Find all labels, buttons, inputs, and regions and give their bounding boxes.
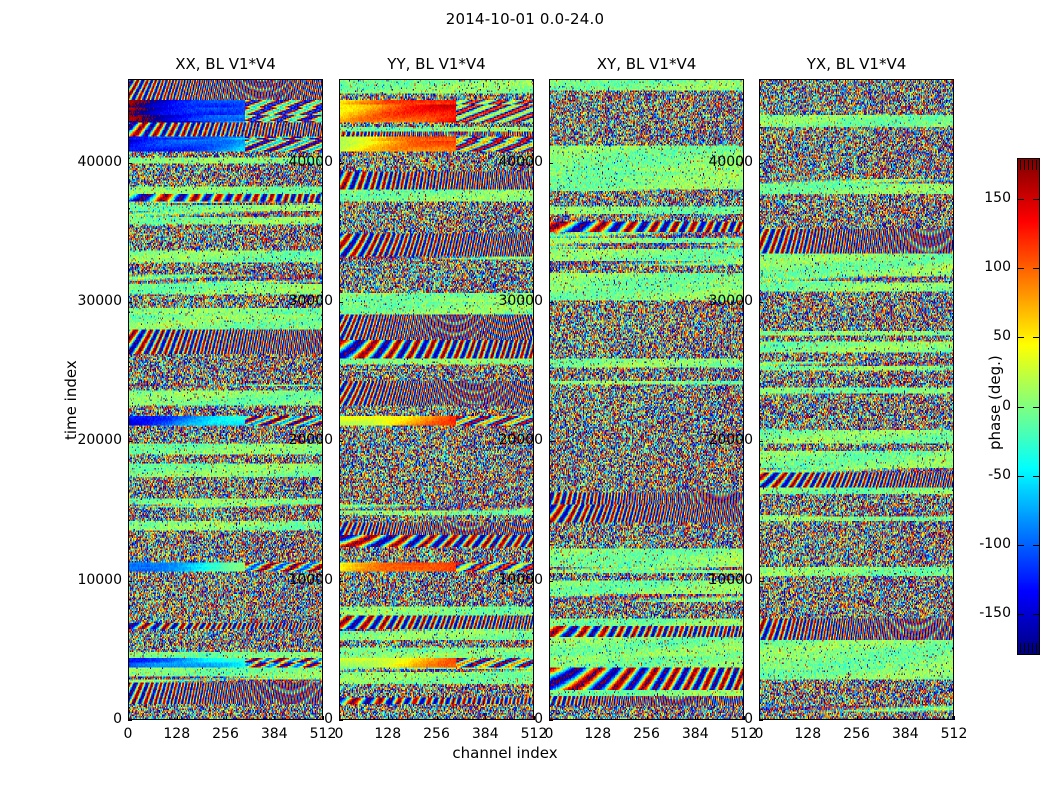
x-tick-mark bbox=[647, 716, 648, 720]
colorbar-tick-mark bbox=[1033, 268, 1040, 269]
colorbar-minor-tick bbox=[1028, 643, 1029, 653]
colorbar-tick-mark bbox=[1017, 268, 1024, 269]
x-tick-mark bbox=[534, 716, 535, 720]
x-tick-label: 512 bbox=[929, 726, 979, 742]
colorbar-tick-label: 0 bbox=[955, 398, 1011, 414]
y-tick-label: 40000 bbox=[649, 154, 753, 170]
colorbar-tick-mark bbox=[1033, 476, 1040, 477]
colorbar-tick-label: 50 bbox=[955, 328, 1011, 344]
x-tick-mark bbox=[808, 716, 809, 720]
colorbar-tick-mark bbox=[1033, 407, 1040, 408]
x-tick-label: 384 bbox=[249, 726, 299, 742]
x-tick-label: 128 bbox=[573, 726, 623, 742]
y-tick-label: 0 bbox=[649, 711, 753, 727]
y-tick-label: 10000 bbox=[229, 572, 333, 588]
panel-title-xy: XY, BL V1*V4 bbox=[549, 55, 744, 73]
y-tick-mark bbox=[759, 441, 763, 442]
x-tick-mark bbox=[437, 716, 438, 720]
y-tick-label: 20000 bbox=[229, 432, 333, 448]
colorbar-tick-mark bbox=[1017, 614, 1024, 615]
panel-title-yx: YX, BL V1*V4 bbox=[759, 55, 954, 73]
x-tick-mark bbox=[339, 716, 340, 720]
x-tick-label: 512 bbox=[719, 726, 769, 742]
y-tick-mark bbox=[549, 720, 553, 721]
x-tick-mark bbox=[226, 716, 227, 720]
x-tick-label: 256 bbox=[201, 726, 251, 742]
x-tick-mark bbox=[905, 716, 906, 720]
x-tick-label: 512 bbox=[509, 726, 559, 742]
x-tick-mark bbox=[695, 716, 696, 720]
colorbar-tick-mark bbox=[1017, 545, 1024, 546]
y-tick-label: 30000 bbox=[439, 293, 543, 309]
x-tick-mark bbox=[177, 716, 178, 720]
x-axis-label: channel index bbox=[380, 744, 630, 762]
panel-title-yy: YY, BL V1*V4 bbox=[339, 55, 534, 73]
y-tick-label: 40000 bbox=[439, 154, 543, 170]
x-tick-label: 384 bbox=[880, 726, 930, 742]
colorbar-tick-mark bbox=[1017, 199, 1024, 200]
colorbar-minor-tick bbox=[1020, 160, 1021, 170]
colorbar-minor-tick bbox=[1036, 160, 1037, 170]
x-tick-label: 0 bbox=[103, 726, 153, 742]
y-tick-mark bbox=[549, 163, 553, 164]
y-axis-label: time index bbox=[62, 360, 80, 440]
x-tick-label: 256 bbox=[622, 726, 672, 742]
y-tick-label: 40000 bbox=[229, 154, 333, 170]
y-tick-label: 20000 bbox=[439, 432, 543, 448]
colorbar-tick-label: -50 bbox=[955, 467, 1011, 483]
colorbar-minor-tick bbox=[1028, 160, 1029, 170]
colorbar-tick-mark bbox=[1033, 337, 1040, 338]
y-tick-mark bbox=[339, 441, 343, 442]
y-tick-mark bbox=[339, 720, 343, 721]
y-tick-mark bbox=[549, 581, 553, 582]
colorbar-tick-label: 100 bbox=[955, 259, 1011, 275]
y-tick-mark bbox=[128, 720, 132, 721]
x-tick-mark bbox=[549, 716, 550, 720]
x-tick-mark bbox=[744, 716, 745, 720]
x-tick-label: 256 bbox=[412, 726, 462, 742]
y-tick-label: 20000 bbox=[18, 432, 122, 448]
x-tick-mark bbox=[857, 716, 858, 720]
colorbar-tick-label: 150 bbox=[955, 190, 1011, 206]
colorbar-tick-label: -150 bbox=[955, 605, 1011, 621]
figure-suptitle: 2014-10-01 0.0-24.0 bbox=[0, 10, 1050, 28]
x-tick-label: 384 bbox=[460, 726, 510, 742]
colorbar-tick-mark bbox=[1017, 407, 1024, 408]
x-tick-label: 128 bbox=[152, 726, 202, 742]
colorbar-minor-tick bbox=[1032, 160, 1033, 170]
panel-title-xx: XX, BL V1*V4 bbox=[128, 55, 323, 73]
y-tick-label: 20000 bbox=[649, 432, 753, 448]
x-tick-label: 128 bbox=[363, 726, 413, 742]
y-tick-mark bbox=[339, 302, 343, 303]
colorbar-tick-mark bbox=[1017, 476, 1024, 477]
y-tick-mark bbox=[759, 581, 763, 582]
x-tick-mark bbox=[128, 716, 129, 720]
colorbar-tick-mark bbox=[1033, 545, 1040, 546]
x-tick-label: 128 bbox=[783, 726, 833, 742]
waterfall-panel-yy[interactable] bbox=[339, 79, 534, 720]
x-tick-mark bbox=[598, 716, 599, 720]
x-tick-mark bbox=[323, 716, 324, 720]
colorbar-minor-tick bbox=[1036, 643, 1037, 653]
x-tick-mark bbox=[274, 716, 275, 720]
colorbar-minor-tick bbox=[1024, 643, 1025, 653]
y-tick-label: 10000 bbox=[649, 572, 753, 588]
colorbar-minor-tick bbox=[1032, 643, 1033, 653]
y-tick-label: 0 bbox=[229, 711, 333, 727]
x-tick-mark bbox=[759, 716, 760, 720]
y-tick-label: 30000 bbox=[229, 293, 333, 309]
y-tick-label: 40000 bbox=[18, 154, 122, 170]
y-tick-mark bbox=[339, 581, 343, 582]
x-tick-mark bbox=[485, 716, 486, 720]
y-tick-mark bbox=[759, 163, 763, 164]
waterfall-panel-xy[interactable] bbox=[549, 79, 744, 720]
y-tick-label: 30000 bbox=[649, 293, 753, 309]
y-tick-mark bbox=[128, 441, 132, 442]
waterfall-panel-yx[interactable] bbox=[759, 79, 954, 720]
y-tick-label: 30000 bbox=[18, 293, 122, 309]
y-tick-label: 10000 bbox=[439, 572, 543, 588]
y-tick-mark bbox=[759, 302, 763, 303]
waterfall-panel-xx[interactable] bbox=[128, 79, 323, 720]
y-tick-label: 0 bbox=[439, 711, 543, 727]
x-tick-mark bbox=[388, 716, 389, 720]
colorbar-tick-label: -100 bbox=[955, 536, 1011, 552]
colorbar-tick-mark bbox=[1017, 337, 1024, 338]
x-tick-label: 384 bbox=[670, 726, 720, 742]
y-tick-mark bbox=[759, 720, 763, 721]
colorbar-minor-tick bbox=[1024, 160, 1025, 170]
x-tick-label: 256 bbox=[832, 726, 882, 742]
y-tick-mark bbox=[339, 163, 343, 164]
y-tick-mark bbox=[128, 302, 132, 303]
colorbar-minor-tick bbox=[1020, 643, 1021, 653]
y-tick-mark bbox=[549, 441, 553, 442]
y-tick-mark bbox=[128, 581, 132, 582]
x-tick-label: 512 bbox=[298, 726, 348, 742]
x-tick-mark bbox=[954, 716, 955, 720]
y-tick-label: 10000 bbox=[18, 572, 122, 588]
figure-canvas: 2014-10-01 0.0-24.0 XX, BL V1*V4 YY, BL … bbox=[0, 0, 1050, 800]
y-tick-label: 0 bbox=[18, 711, 122, 727]
colorbar-tick-mark bbox=[1033, 614, 1040, 615]
y-tick-mark bbox=[128, 163, 132, 164]
colorbar-tick-mark bbox=[1033, 199, 1040, 200]
y-tick-mark bbox=[549, 302, 553, 303]
